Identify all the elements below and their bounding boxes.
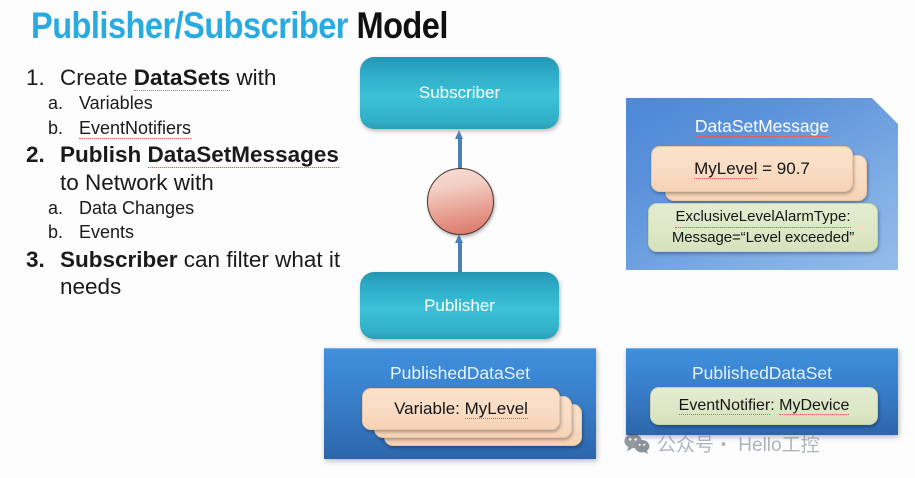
outline-segment: Create [60, 65, 134, 90]
outline-item: 1.Create DataSets with [22, 64, 342, 91]
outline-segment: to Network with [60, 170, 214, 195]
outline-item-marker: b. [48, 221, 79, 244]
event-card-line1: ExclusiveLevelAlarmType: [675, 207, 850, 228]
outline-item: a.Data Changes [22, 197, 342, 220]
datasetmessage-event-card[interactable]: ExclusiveLevelAlarmType: Message=“Level … [648, 203, 878, 252]
outline-item-marker: 1. [22, 64, 60, 91]
mylevel-token: MyLevel [694, 159, 757, 179]
arrow-up-upper-icon [455, 130, 464, 170]
outline-segment: Publish [60, 142, 148, 167]
outline-segment: EventNotifiers [79, 118, 191, 139]
outline-item-text: EventNotifiers [79, 117, 191, 140]
outline-item-text: Subscriber can filter what it needs [60, 246, 342, 301]
outline-item: a.Variables [22, 92, 342, 115]
outline-item-text: Variables [79, 92, 153, 115]
outline-segment: Events [79, 222, 134, 242]
watermark-text: 公众号・ Hello工控 [657, 430, 820, 457]
datasetmessage-title-text: DataSetMessage [695, 116, 829, 137]
publisheddataset-right-title: PublishedDataSet [626, 363, 898, 384]
publisheddataset-left-panel[interactable]: PublishedDataSet Variable: MyLevel [324, 348, 596, 459]
outline-item: b.Events [22, 221, 342, 244]
outline-item-marker: 2. [22, 141, 60, 168]
outline-item: 2.Publish DataSetMessages to Network wit… [22, 141, 342, 196]
outline-item-text: Publish DataSetMessages to Network with [60, 141, 342, 196]
page-title-plain-spacer [348, 5, 357, 46]
event-card-line2: Message=“Level exceeded” [672, 228, 854, 248]
outline-segment: with [230, 65, 276, 90]
outline-segment: Variables [79, 93, 153, 113]
outline-item-marker: b. [48, 117, 79, 140]
mylevel-token: MyLevel [465, 399, 528, 419]
datasetmessage-panel[interactable]: DataSetMessage MyLevel = 90.7 ExclusiveL… [626, 98, 898, 270]
publisheddataset-left-card-1[interactable]: Variable: MyLevel [362, 388, 560, 430]
outline-segment: DataSetMessages [148, 142, 339, 168]
page-title-plain: Model [356, 5, 447, 46]
watermark: 公众号・ Hello工控 [624, 430, 820, 457]
datasetmessage-card-front[interactable]: MyLevel = 90.7 [651, 146, 853, 192]
outline-item-text: Create DataSets with [60, 64, 342, 91]
node-publisher-label: Publisher [424, 296, 495, 316]
publisheddataset-left-card-1-label: Variable: MyLevel [394, 399, 528, 419]
page-title-accent: Publisher/Subscriber [31, 5, 348, 46]
datasetmessage-card-front-label: MyLevel = 90.7 [694, 159, 810, 179]
outline-item-marker: a. [48, 92, 79, 115]
page-title: Publisher/Subscriber Model [31, 5, 448, 47]
arrow-shaft [458, 137, 462, 170]
arrow-shaft [458, 241, 462, 273]
eventnotifier-token: EventNotifier [679, 397, 771, 415]
publisheddataset-right-card[interactable]: EventNotifier: MyDevice [650, 387, 878, 425]
outline-item-text: Data Changes [79, 197, 194, 220]
outline-list: 1.Create DataSets witha.Variablesb.Event… [22, 64, 342, 302]
arrow-up-lower-icon [455, 234, 464, 273]
outline-item-marker: a. [48, 197, 79, 220]
node-publisher[interactable]: Publisher [360, 272, 559, 339]
wechat-icon [624, 433, 650, 454]
datasetmessage-title: DataSetMessage [626, 116, 898, 137]
slide-canvas: Publisher/Subscriber Model 1.Create Data… [0, 0, 915, 478]
publisheddataset-right-card-label: EventNotifier: MyDevice [679, 397, 850, 415]
outline-item-text: Events [79, 221, 134, 244]
publisheddataset-left-title: PublishedDataSet [324, 363, 596, 384]
mydevice-token: MyDevice [779, 397, 849, 415]
node-subscriber[interactable]: Subscriber [360, 57, 559, 129]
outline-segment: Data Changes [79, 198, 194, 218]
outline-segment: DataSets [134, 65, 230, 91]
outline-item-marker: 3. [22, 246, 60, 273]
outline-item: b.EventNotifiers [22, 117, 342, 140]
node-subscriber-label: Subscriber [419, 83, 500, 103]
outline-segment: Subscriber [60, 247, 178, 272]
publisheddataset-right-panel[interactable]: PublishedDataSet EventNotifier: MyDevice [626, 348, 898, 435]
network-node-circle[interactable] [427, 168, 494, 235]
outline-item: 3.Subscriber can filter what it needs [22, 246, 342, 301]
